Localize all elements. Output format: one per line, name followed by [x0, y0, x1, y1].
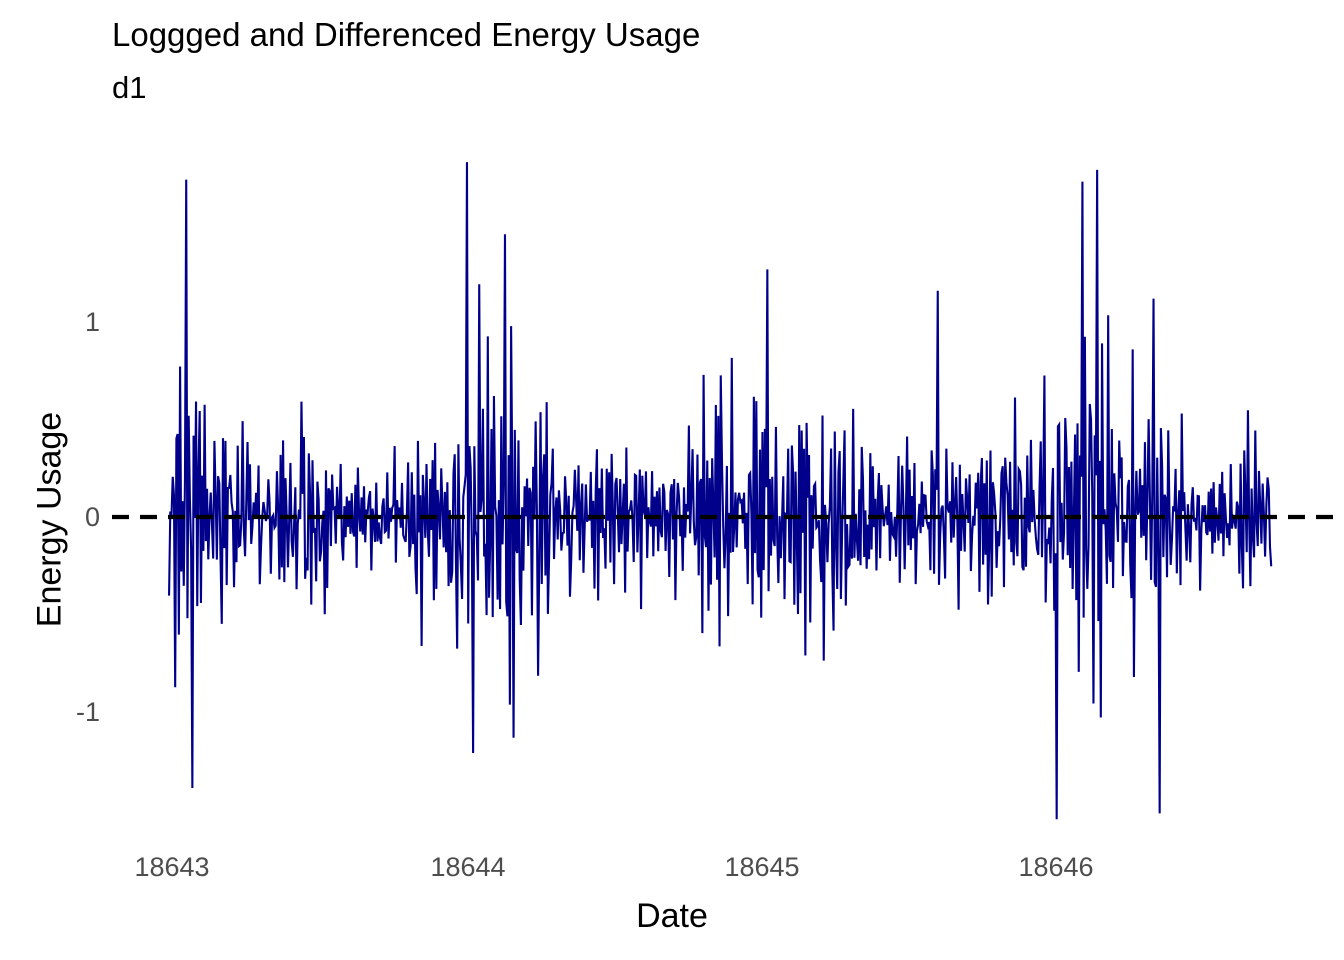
energy-usage-series: [169, 162, 1271, 819]
plot-canvas: [0, 0, 1344, 960]
chart-figure: Loggged and Differenced Energy Usage d1 …: [0, 0, 1344, 960]
